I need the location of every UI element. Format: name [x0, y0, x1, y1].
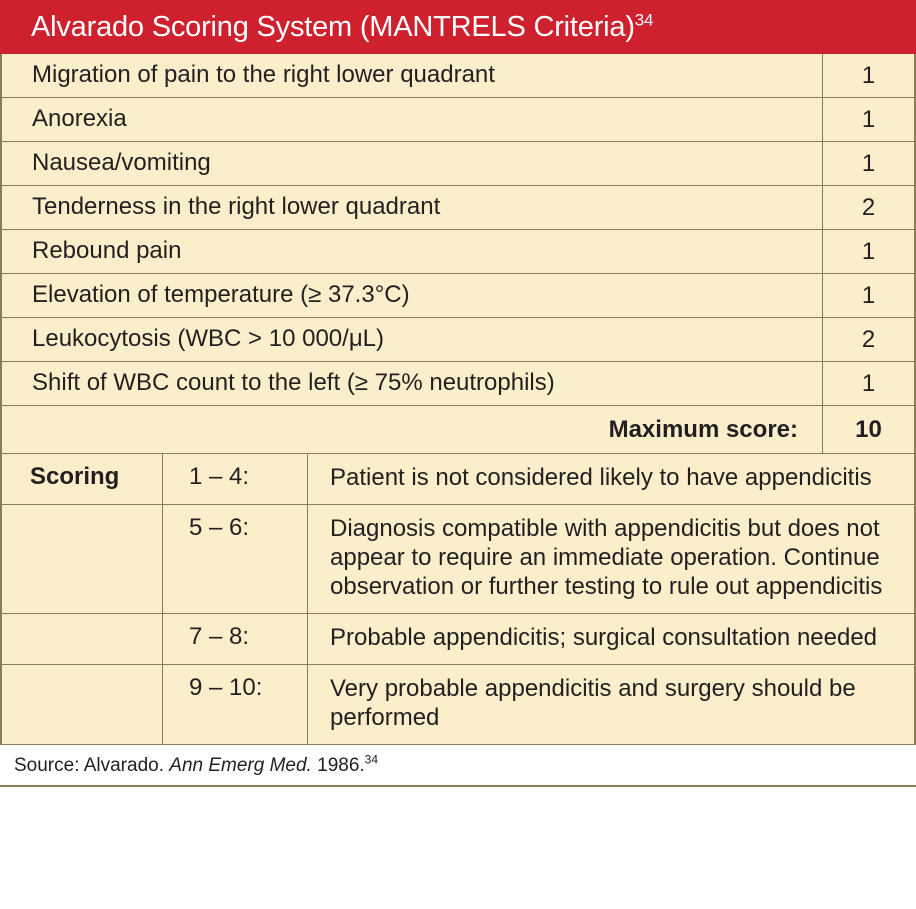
- table-row: Elevation of temperature (≥ 37.3°C) 1: [2, 274, 914, 318]
- source-citation: Source: Alvarado. Ann Emerg Med. 1986.34: [0, 745, 916, 787]
- scoring-heading-spacer: [2, 665, 162, 744]
- table-header-banner: Alvarado Scoring System (MANTRELS Criter…: [0, 0, 916, 54]
- criterion-score: 1: [822, 98, 914, 141]
- scoring-description: Diagnosis compatible with appendicitis b…: [307, 505, 914, 613]
- scoring-range: 5 – 6:: [162, 505, 307, 613]
- criterion-label: Nausea/vomiting: [2, 142, 822, 185]
- scoring-range: 9 – 10:: [162, 665, 307, 744]
- scoring-heading-spacer: [2, 505, 162, 613]
- scoring-heading-spacer: [2, 614, 162, 664]
- scoring-row: 5 – 6: Diagnosis compatible with appendi…: [2, 505, 914, 614]
- criterion-score: 1: [822, 142, 914, 185]
- page-title-reference-marker: 34: [635, 10, 654, 29]
- source-prefix: Source: Alvarado.: [14, 755, 169, 776]
- criterion-label: Rebound pain: [2, 230, 822, 273]
- maximum-score-value: 10: [822, 406, 914, 453]
- table-row: Anorexia 1: [2, 98, 914, 142]
- page-title: Alvarado Scoring System (MANTRELS Criter…: [31, 13, 653, 42]
- scoring-description: Patient is not considered likely to have…: [307, 454, 914, 504]
- criterion-label: Leukocytosis (WBC > 10 000/μL): [2, 318, 822, 361]
- criterion-label: Anorexia: [2, 98, 822, 141]
- source-journal: Ann Emerg Med.: [169, 755, 312, 776]
- table-row: Tenderness in the right lower quadrant 2: [2, 186, 914, 230]
- table-row: Migration of pain to the right lower qua…: [2, 54, 914, 98]
- scoring-description: Probable appendicitis; surgical consulta…: [307, 614, 914, 664]
- criterion-score: 2: [822, 186, 914, 229]
- maximum-score-row: Maximum score: 10: [2, 406, 914, 454]
- criterion-label: Shift of WBC count to the left (≥ 75% ne…: [2, 362, 822, 405]
- scoring-section-heading: Scoring: [2, 454, 162, 504]
- maximum-score-label: Maximum score:: [2, 406, 822, 453]
- scoring-range: 1 – 4:: [162, 454, 307, 504]
- criterion-label: Migration of pain to the right lower qua…: [2, 54, 822, 97]
- scoring-row: 7 – 8: Probable appendicitis; surgical c…: [2, 614, 914, 665]
- criterion-score: 1: [822, 230, 914, 273]
- alvarado-scoring-table: Alvarado Scoring System (MANTRELS Criter…: [0, 0, 916, 909]
- criterion-score: 1: [822, 274, 914, 317]
- scoring-range: 7 – 8:: [162, 614, 307, 664]
- scoring-row: 9 – 10: Very probable appendicitis and s…: [2, 665, 914, 745]
- criterion-score: 1: [822, 362, 914, 405]
- criterion-score: 2: [822, 318, 914, 361]
- criterion-score: 1: [822, 54, 914, 97]
- scoring-description: Very probable appendicitis and surgery s…: [307, 665, 914, 744]
- page-title-text: Alvarado Scoring System (MANTRELS Criter…: [31, 11, 635, 43]
- table-row: Rebound pain 1: [2, 230, 914, 274]
- criterion-label: Tenderness in the right lower quadrant: [2, 186, 822, 229]
- table-grid: Migration of pain to the right lower qua…: [0, 54, 916, 745]
- table-row: Leukocytosis (WBC > 10 000/μL) 2: [2, 318, 914, 362]
- criterion-label: Elevation of temperature (≥ 37.3°C): [2, 274, 822, 317]
- source-reference-marker: 34: [365, 753, 378, 767]
- table-row: Shift of WBC count to the left (≥ 75% ne…: [2, 362, 914, 406]
- source-year: 1986.: [312, 755, 365, 776]
- table-row: Nausea/vomiting 1: [2, 142, 914, 186]
- scoring-row: Scoring 1 – 4: Patient is not considered…: [2, 454, 914, 505]
